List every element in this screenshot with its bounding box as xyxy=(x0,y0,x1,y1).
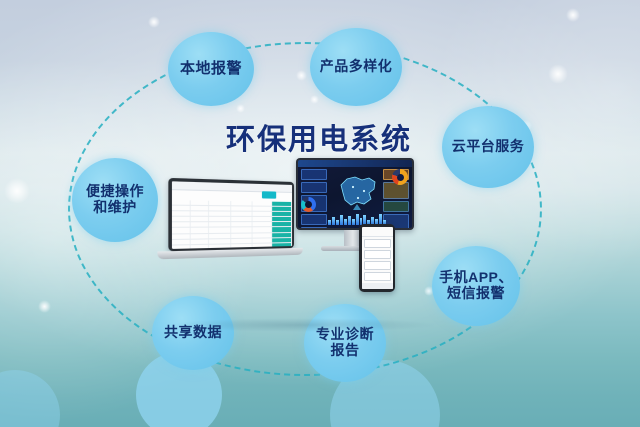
list-item xyxy=(364,250,391,259)
sparkle-icon xyxy=(148,16,160,28)
dashboard-header-bar xyxy=(298,160,412,167)
list-item xyxy=(364,239,391,248)
list-item xyxy=(364,272,391,281)
device-cluster xyxy=(178,158,428,333)
bubble-mobile-app-sms[interactable]: 手机APP、 短信报警 xyxy=(432,246,520,326)
bubble-label: 报告 xyxy=(331,343,360,359)
monitor-screen-dashboard xyxy=(298,160,412,228)
desktop-monitor[interactable] xyxy=(296,158,414,230)
bubble-label: 云平台服务 xyxy=(452,139,525,155)
bubble-product-diversity[interactable]: 产品多样化 xyxy=(310,28,402,106)
table-action-badge xyxy=(261,191,275,198)
page-title: 环保用电系统 xyxy=(226,116,456,158)
bubble-label: 和维护 xyxy=(93,200,137,216)
bubble-label: 本地报警 xyxy=(180,61,242,78)
dashboard-gauge-icon xyxy=(392,169,408,185)
sparkle-icon xyxy=(310,95,319,104)
bubble-label: 产品多样化 xyxy=(320,59,393,75)
sparkle-icon xyxy=(236,104,245,113)
sparkle-icon xyxy=(4,178,30,204)
bubble-local-alarm[interactable]: 本地报警 xyxy=(168,32,254,106)
sparkle-icon xyxy=(566,8,580,22)
laptop-lid xyxy=(168,178,294,251)
laptop[interactable] xyxy=(168,178,294,260)
bubble-easy-operation[interactable]: 便捷操作 和维护 xyxy=(72,158,158,242)
list-item xyxy=(364,261,391,270)
tablet[interactable] xyxy=(359,224,395,292)
bubble-label: 短信报警 xyxy=(447,286,505,302)
tablet-bottom-navbar[interactable] xyxy=(362,283,393,289)
decorative-circle xyxy=(0,370,60,427)
tablet-screen-list xyxy=(362,227,393,289)
bubble-label: 手机APP、 xyxy=(439,270,513,286)
sparkle-icon xyxy=(296,70,307,81)
dashboard-donut-chart xyxy=(301,197,316,212)
laptop-screen-table xyxy=(171,181,291,249)
china-map-visualization xyxy=(331,171,383,211)
sparkle-icon xyxy=(38,300,51,313)
bubble-label: 便捷操作 xyxy=(86,184,144,200)
poster-canvas: 本地报警 产品多样化 云平台服务 手机APP、 短信报警 专业诊断 报告 共享数… xyxy=(0,0,640,427)
sparkle-icon xyxy=(548,64,568,84)
